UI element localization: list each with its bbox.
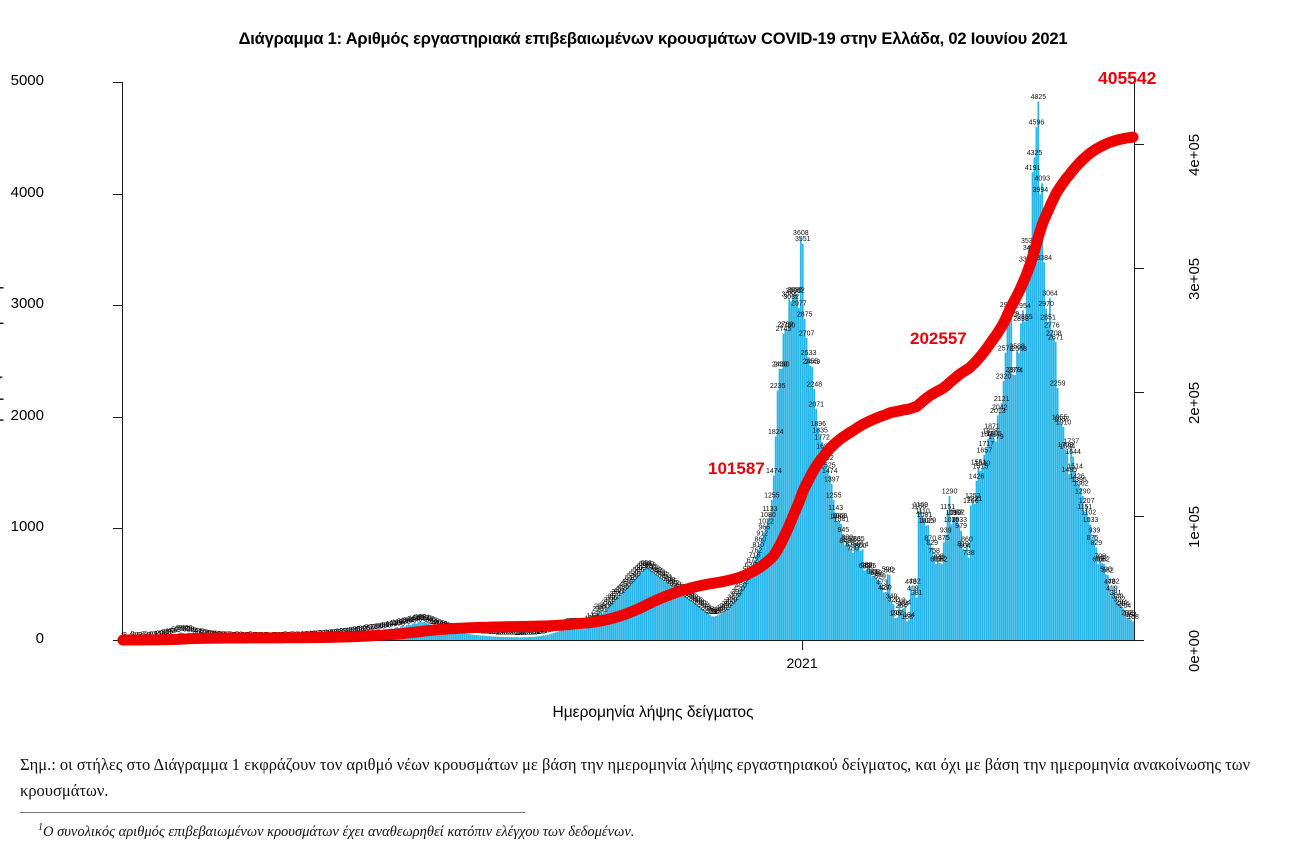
- y-tick-right: [1135, 144, 1144, 145]
- y-tick-left: [113, 305, 122, 306]
- y-tick-label-left: 5000: [11, 72, 44, 89]
- y-tick-label-left: 1000: [11, 518, 44, 535]
- note-divider: [20, 812, 525, 813]
- y-tick-left: [113, 82, 122, 83]
- y-tick-label-left: 0: [36, 630, 44, 647]
- y-tick-label-right: 2e+05: [1186, 382, 1203, 424]
- note-main: Σημ.: οι στήλες στο Διάγραμμα 1 εκφράζου…: [20, 752, 1290, 803]
- x-tick-label: 2021: [786, 655, 817, 671]
- y-tick-label-right: 4e+05: [1186, 134, 1203, 176]
- note-footnote: 1Ο συνολικός αριθμός επιβεβαιωμένων κρου…: [38, 820, 1298, 843]
- y-tick-right: [1135, 392, 1144, 393]
- y-tick-right: [1135, 516, 1144, 517]
- y-tick-left: [113, 417, 122, 418]
- y-tick-left: [113, 194, 122, 195]
- y-tick-left: [113, 528, 122, 529]
- chart-page: Διάγραμμα 1: Αριθμός εργαστηριακά επιβεβ…: [0, 0, 1306, 860]
- y-tick-right: [1135, 640, 1144, 641]
- y-axis-right-line: [1134, 82, 1135, 640]
- annotation-mid-cases: 202557: [910, 329, 967, 349]
- y-tick-label-right: 0e+00: [1186, 630, 1203, 672]
- x-axis-label: Ημερομηνία λήψης δείγματος: [0, 704, 1306, 722]
- y-tick-label-left: 4000: [11, 184, 44, 201]
- cumulative-line-series: [122, 82, 1134, 640]
- y-tick-label-left: 3000: [11, 295, 44, 312]
- y-tick-label-right: 1e+05: [1186, 506, 1203, 548]
- footnote-text: Ο συνολικός αριθμός επιβεβαιωμένων κρουσ…: [43, 824, 634, 840]
- y-axis-left-label: Αριθμός νέων κρουσμάτων: [0, 59, 5, 619]
- y-tick-label-left: 2000: [11, 407, 44, 424]
- chart-title: Διάγραμμα 1: Αριθμός εργαστηριακά επιβεβ…: [0, 30, 1306, 49]
- annotation-lower-cases: 101587: [708, 459, 765, 479]
- cumulative-line: [123, 137, 1133, 640]
- y-tick-right: [1135, 268, 1144, 269]
- plot-area: 2347625387964101291520182431283540465249…: [122, 82, 1134, 640]
- x-tick: [802, 641, 803, 650]
- y-tick-label-right: 3e+05: [1186, 258, 1203, 300]
- annotation-total-cases: 405542: [1098, 68, 1156, 89]
